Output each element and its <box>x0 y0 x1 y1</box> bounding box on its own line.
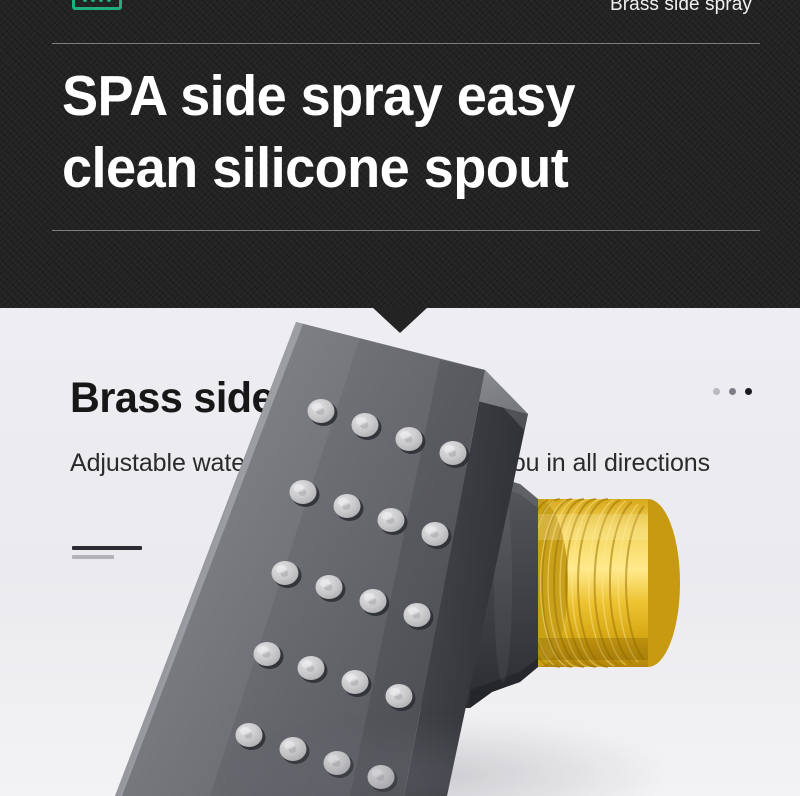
pager-dot-2[interactable] <box>729 388 736 395</box>
brand-dot <box>91 0 95 2</box>
product-floor-shadow <box>210 716 680 796</box>
hero-eyebrow-label: Brass side spray <box>610 0 752 17</box>
hero-title-line-1: SPA side spray easy <box>62 60 727 132</box>
brand-dot <box>83 0 87 2</box>
brass-threaded-inlet <box>508 499 680 667</box>
brand-dot <box>107 0 111 2</box>
accent-bar-secondary <box>72 555 114 559</box>
hero-pointer-arrow-icon <box>372 307 428 333</box>
hero-title: SPA side spray easy clean silicone spout <box>62 60 727 204</box>
brand-dot <box>99 0 103 2</box>
section-description: Adjustable water outlet angle to satisfy… <box>70 442 710 485</box>
accent-bar-primary <box>72 546 142 550</box>
carousel-pager-dots[interactable] <box>713 388 752 395</box>
hero-divider-bottom <box>52 230 760 231</box>
shower-connector-body <box>418 458 538 708</box>
product-detail-page: Brass side spray SPA side spray easy cle… <box>0 0 800 796</box>
section-title: Brass side spray <box>70 372 393 424</box>
product-feature-section: Brass side spray Adjustable water outlet… <box>0 308 800 796</box>
shower-head-side-face <box>404 370 528 796</box>
brand-bracket-dots-icon <box>72 0 122 10</box>
accent-underline <box>72 546 142 559</box>
pager-dot-1[interactable] <box>713 388 720 395</box>
hero-divider-top <box>52 43 760 44</box>
hero-title-line-2: clean silicone spout <box>62 132 727 204</box>
pager-dot-3[interactable] <box>745 388 752 395</box>
hero-banner: Brass side spray SPA side spray easy cle… <box>0 0 800 308</box>
